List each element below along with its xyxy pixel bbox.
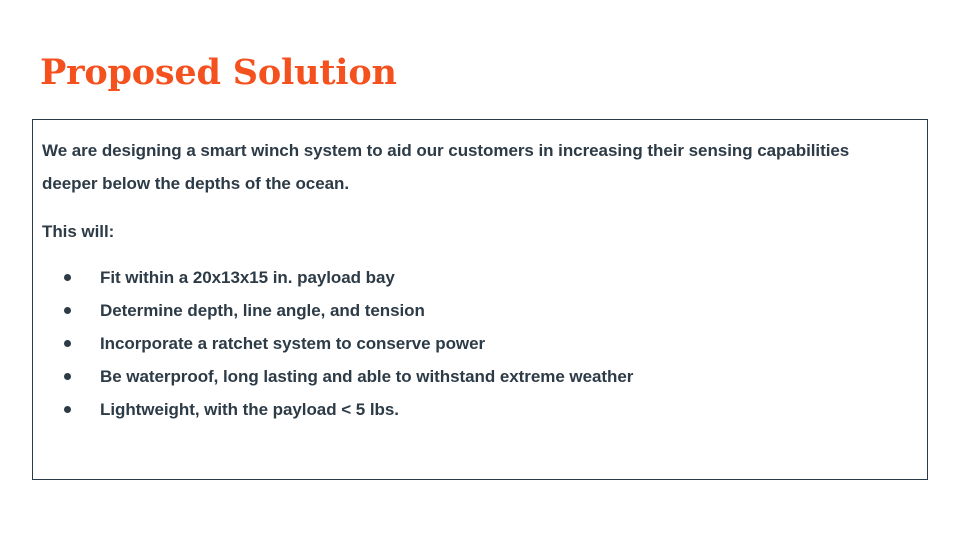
list-item-label: Fit within a 20x13x15 in. payload bay <box>100 268 395 287</box>
page-title: Proposed Solution <box>40 52 397 94</box>
list-item: Lightweight, with the payload < 5 lbs. <box>42 393 911 426</box>
list-item: Incorporate a ratchet system to conserve… <box>42 327 911 360</box>
bullet-dot-icon <box>64 307 71 314</box>
list-item: Fit within a 20x13x15 in. payload bay <box>42 261 911 294</box>
list-item: Be waterproof, long lasting and able to … <box>42 360 911 393</box>
bullet-dot-icon <box>64 406 71 413</box>
list-item-label: Be waterproof, long lasting and able to … <box>100 367 633 386</box>
bullet-dot-icon <box>64 340 71 347</box>
list-item-label: Lightweight, with the payload < 5 lbs. <box>100 400 399 419</box>
intro-paragraph: We are designing a smart winch system to… <box>42 134 908 200</box>
bullet-dot-icon <box>64 274 71 281</box>
list-item-label: Incorporate a ratchet system to conserve… <box>100 334 485 353</box>
list-item-label: Determine depth, line angle, and tension <box>100 301 425 320</box>
lead-in-text: This will: <box>42 215 911 248</box>
requirements-list: Fit within a 20x13x15 in. payload bay De… <box>42 261 911 426</box>
list-item: Determine depth, line angle, and tension <box>42 294 911 327</box>
content-box: We are designing a smart winch system to… <box>32 119 928 480</box>
bullet-dot-icon <box>64 373 71 380</box>
slide: Proposed Solution We are designing a sma… <box>0 0 960 540</box>
